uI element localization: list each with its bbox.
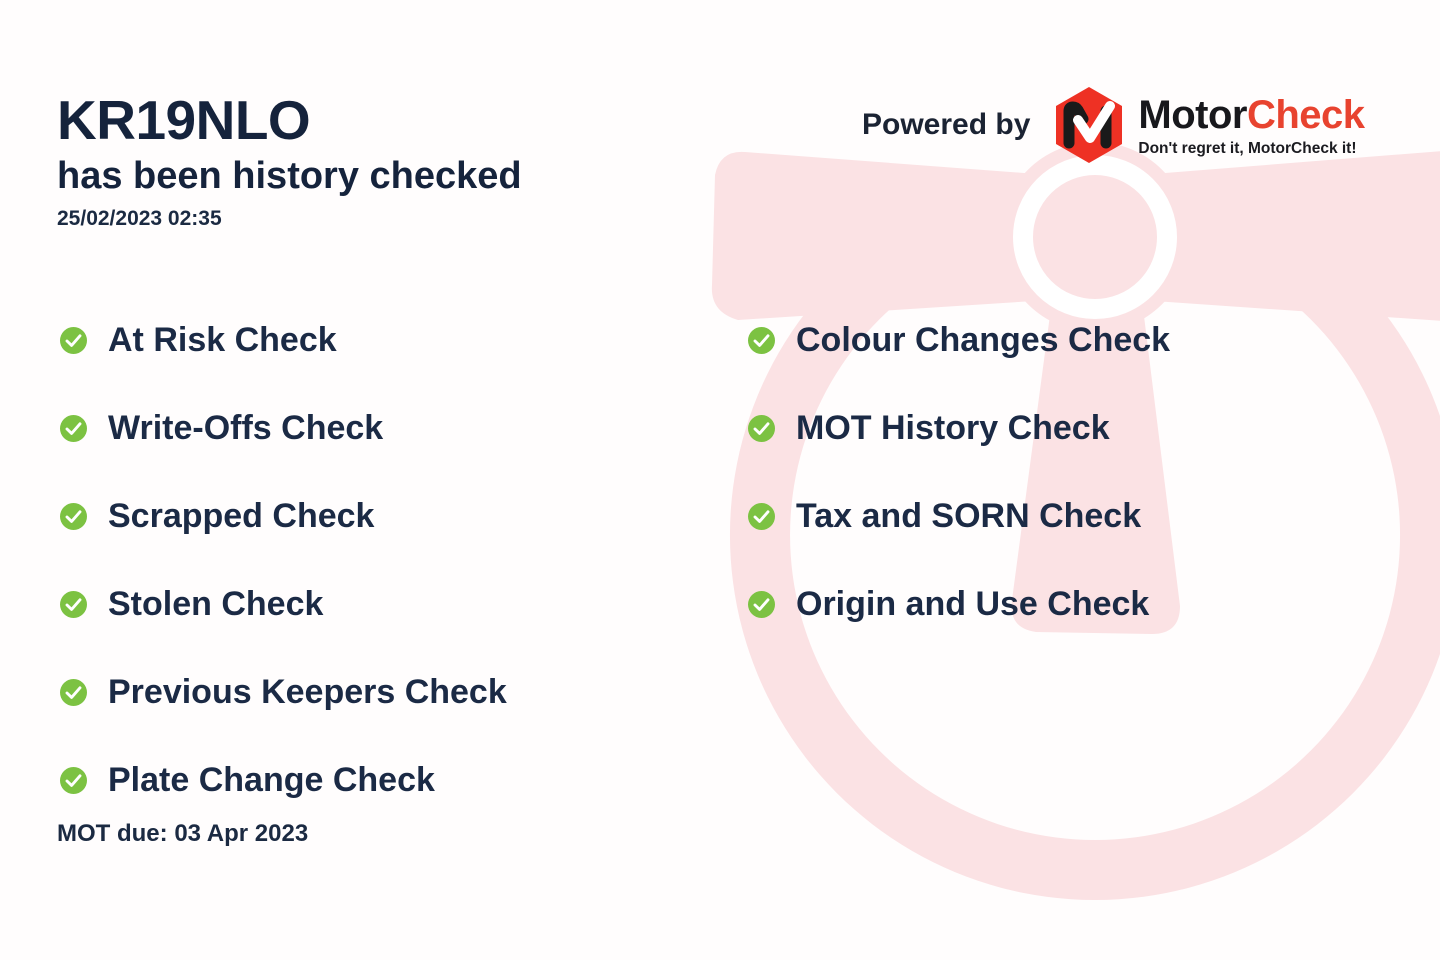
header-block: KR19NLO has been history checked 25/02/2… — [57, 92, 697, 231]
motorcheck-logo[interactable]: MotorCheck Don't regret it, MotorCheck i… — [1054, 86, 1364, 164]
check-item: Origin and Use Check — [748, 560, 1170, 648]
check-circle-icon — [60, 679, 87, 706]
history-check-summary-card: KR19NLO has been history checked 25/02/2… — [0, 0, 1440, 960]
check-item-label: Scrapped Check — [108, 499, 374, 533]
check-item-label: Origin and Use Check — [796, 587, 1149, 621]
checklist-right-column: Colour Changes Check MOT History Check T… — [748, 296, 1170, 648]
check-item-label: At Risk Check — [108, 323, 337, 357]
brand-lockup: Powered by MotorCheck Don't regret it, M… — [862, 86, 1365, 164]
registration-plate: KR19NLO — [57, 92, 697, 150]
check-circle-icon — [60, 591, 87, 618]
check-item-label: MOT History Check — [796, 411, 1110, 445]
check-item: Plate Change Check — [60, 736, 507, 824]
motorcheck-hexagon-logo — [1054, 86, 1124, 164]
wordmark-block: MotorCheck Don't regret it, MotorCheck i… — [1138, 95, 1364, 158]
check-circle-icon — [60, 503, 87, 530]
brand-tagline: Don't regret it, MotorCheck it! — [1138, 140, 1364, 158]
powered-by-label: Powered by — [862, 108, 1030, 142]
check-item: Write-Offs Check — [60, 384, 507, 472]
check-timestamp: 25/02/2023 02:35 — [57, 207, 697, 231]
check-circle-icon — [60, 415, 87, 442]
check-item: Colour Changes Check — [748, 296, 1170, 384]
check-circle-icon — [748, 591, 775, 618]
check-circle-icon — [60, 327, 87, 354]
check-item-label: Plate Change Check — [108, 763, 435, 797]
wordmark-motor: Motor — [1138, 93, 1247, 137]
check-circle-icon — [748, 327, 775, 354]
check-item: Stolen Check — [60, 560, 507, 648]
check-item: Tax and SORN Check — [748, 472, 1170, 560]
check-item: MOT History Check — [748, 384, 1170, 472]
check-item-label: Tax and SORN Check — [796, 499, 1141, 533]
check-item-label: Colour Changes Check — [796, 323, 1170, 357]
check-item-label: Stolen Check — [108, 587, 323, 621]
check-item: Previous Keepers Check — [60, 648, 507, 736]
check-item-label: Write-Offs Check — [108, 411, 383, 445]
brand-wordmark: MotorCheck — [1138, 95, 1364, 135]
check-circle-icon — [748, 415, 775, 442]
check-item: At Risk Check — [60, 296, 507, 384]
wordmark-check: Check — [1247, 93, 1365, 137]
check-item-label: Previous Keepers Check — [108, 675, 507, 709]
check-item: Scrapped Check — [60, 472, 507, 560]
page-title: has been history checked — [57, 154, 697, 199]
checklist-left-column: At Risk Check Write-Offs Check Scrapped … — [60, 296, 507, 824]
check-circle-icon — [748, 503, 775, 530]
check-circle-icon — [60, 767, 87, 794]
mot-due-text: MOT due: 03 Apr 2023 — [57, 820, 308, 848]
